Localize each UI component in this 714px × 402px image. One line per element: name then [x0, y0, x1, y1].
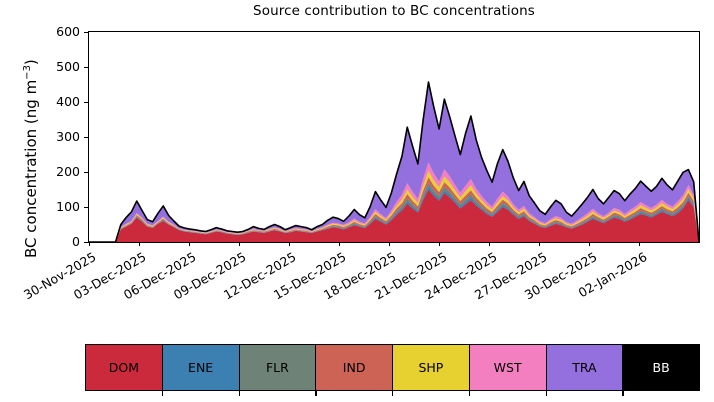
- y-tick-label: 0: [0, 234, 88, 249]
- y-tick-label: 100: [0, 199, 88, 214]
- legend-tick-mark: [622, 390, 623, 396]
- legend-tick-mark: [315, 390, 316, 396]
- y-tick-label: 300: [0, 129, 88, 144]
- stacked-area-svg: [89, 32, 699, 242]
- legend-tick-mark: [239, 390, 240, 396]
- legend-item-bb[interactable]: BB: [622, 345, 699, 390]
- chart-title: Source contribution to BC concentrations: [88, 3, 700, 19]
- x-tick-label: 27-Dec-2025: [460, 249, 549, 309]
- legend-tick-mark: [469, 390, 470, 396]
- figure-canvas: Source contribution to BC concentrations…: [0, 0, 714, 402]
- y-tick-label: 500: [0, 59, 88, 74]
- legend-item-flr[interactable]: FLR: [239, 345, 316, 390]
- legend-item-ind[interactable]: IND: [315, 345, 392, 390]
- y-tick-label: 200: [0, 164, 88, 179]
- y-tick-label: 400: [0, 94, 88, 109]
- y-tick-label: 600: [0, 24, 88, 39]
- legend-item-shp[interactable]: SHP: [392, 345, 469, 390]
- legend-tick-mark: [392, 390, 393, 396]
- y-axis-label: BC concentration (ng m−3): [22, 59, 40, 258]
- legend: DOMENEFLRINDSHPWSTTRABB: [85, 344, 700, 391]
- legend-item-wst[interactable]: WST: [469, 345, 546, 390]
- legend-item-dom[interactable]: DOM: [86, 345, 162, 390]
- x-tick-label: 24-Dec-2025: [410, 249, 499, 309]
- plot-area: [88, 31, 700, 243]
- legend-item-tra[interactable]: TRA: [546, 345, 623, 390]
- legend-item-ene[interactable]: ENE: [162, 345, 239, 390]
- legend-tick-mark: [546, 390, 547, 396]
- legend-tick-mark: [162, 390, 163, 396]
